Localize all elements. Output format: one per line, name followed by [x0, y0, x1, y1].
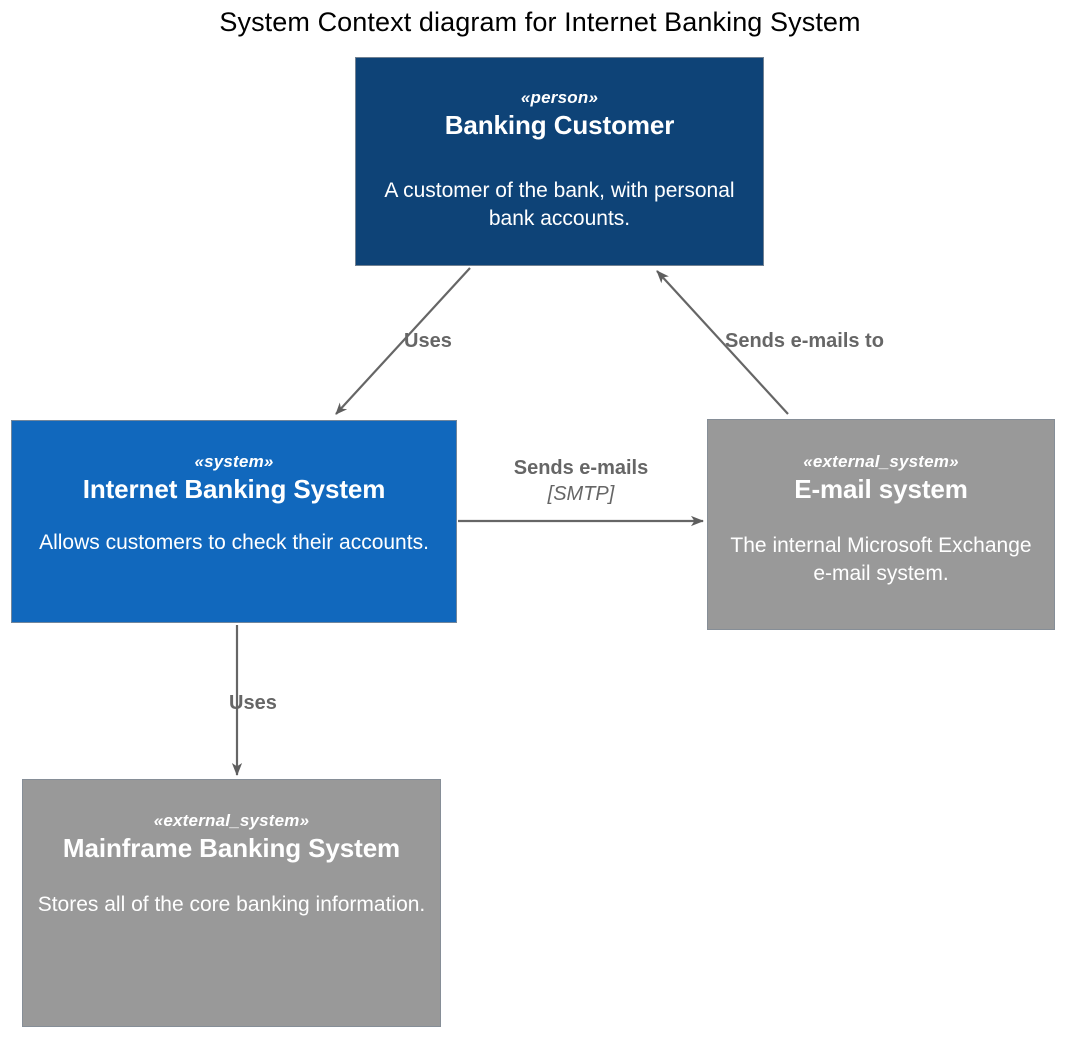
node-title: E-mail system: [794, 473, 968, 505]
node-description: The internal Microsoft Exchange e-mail s…: [720, 532, 1042, 588]
node-description: A customer of the bank, with personal ba…: [368, 177, 751, 233]
node-stereotype: «person»: [521, 87, 598, 109]
edge-label-text: Sends e-mails to: [725, 330, 884, 352]
edge-label-text: Sends e-mails: [514, 457, 649, 479]
edge-label-technology: [SMTP]: [485, 481, 677, 507]
node-internet-banking-system[interactable]: «system» Internet Banking System Allows …: [11, 420, 457, 623]
edge-label-uses-system-mainframe: Uses: [229, 690, 277, 716]
node-email-system[interactable]: «external_system» E-mail system The inte…: [707, 419, 1055, 630]
diagram-title: System Context diagram for Internet Bank…: [0, 5, 1080, 39]
node-description: Allows customers to check their accounts…: [39, 529, 429, 557]
node-title: Internet Banking System: [83, 473, 386, 505]
node-title: Banking Customer: [445, 109, 675, 141]
node-stereotype: «system»: [194, 451, 273, 473]
node-title: Mainframe Banking System: [63, 832, 400, 864]
node-mainframe-banking-system[interactable]: «external_system» Mainframe Banking Syst…: [22, 779, 441, 1027]
edge-label-uses-customer-system: Uses: [404, 328, 452, 354]
node-stereotype: «external_system»: [803, 451, 959, 473]
diagram-canvas: System Context diagram for Internet Bank…: [0, 0, 1080, 1044]
node-banking-customer[interactable]: «person» Banking Customer A customer of …: [355, 57, 764, 266]
node-stereotype: «external_system»: [154, 810, 310, 832]
edge-label-sends-emails-smtp: Sends e-mails [SMTP]: [485, 455, 677, 507]
edge-label-text: Uses: [404, 330, 452, 352]
node-description: Stores all of the core banking informati…: [38, 891, 426, 919]
edge-label-sends-emails-to: Sends e-mails to: [725, 328, 884, 354]
edge-label-text: Uses: [229, 692, 277, 714]
